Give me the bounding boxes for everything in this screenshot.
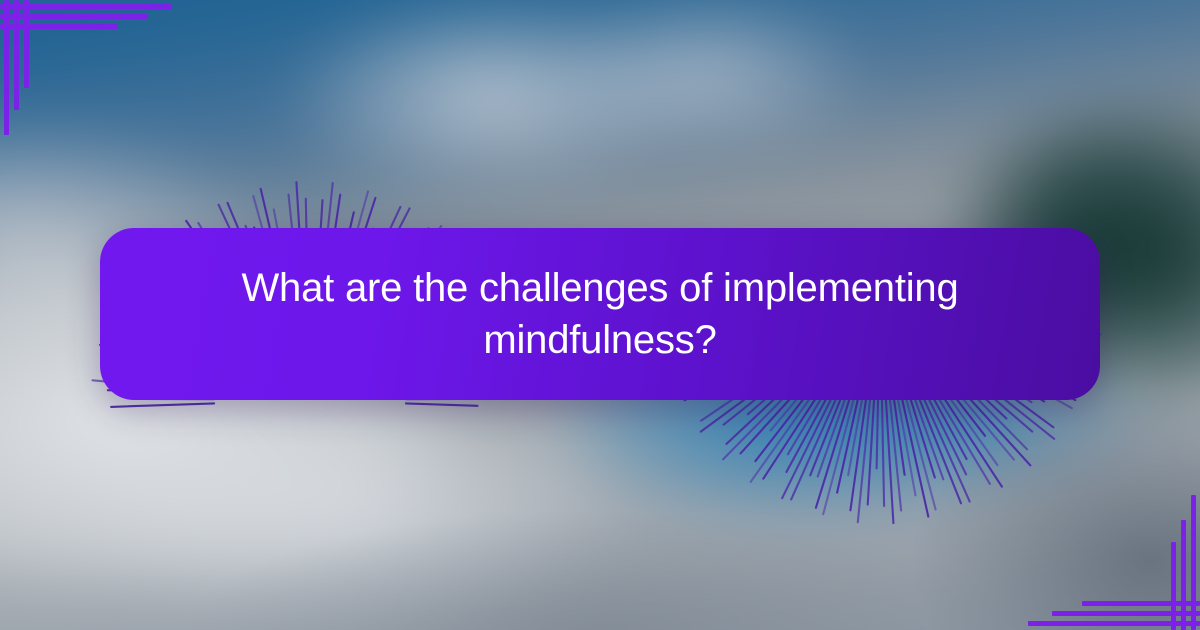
question-card: What are the challenges of implementing … bbox=[100, 228, 1100, 400]
question-text: What are the challenges of implementing … bbox=[200, 262, 1000, 366]
question-card-canvas: What are the challenges of implementing … bbox=[0, 0, 1200, 630]
